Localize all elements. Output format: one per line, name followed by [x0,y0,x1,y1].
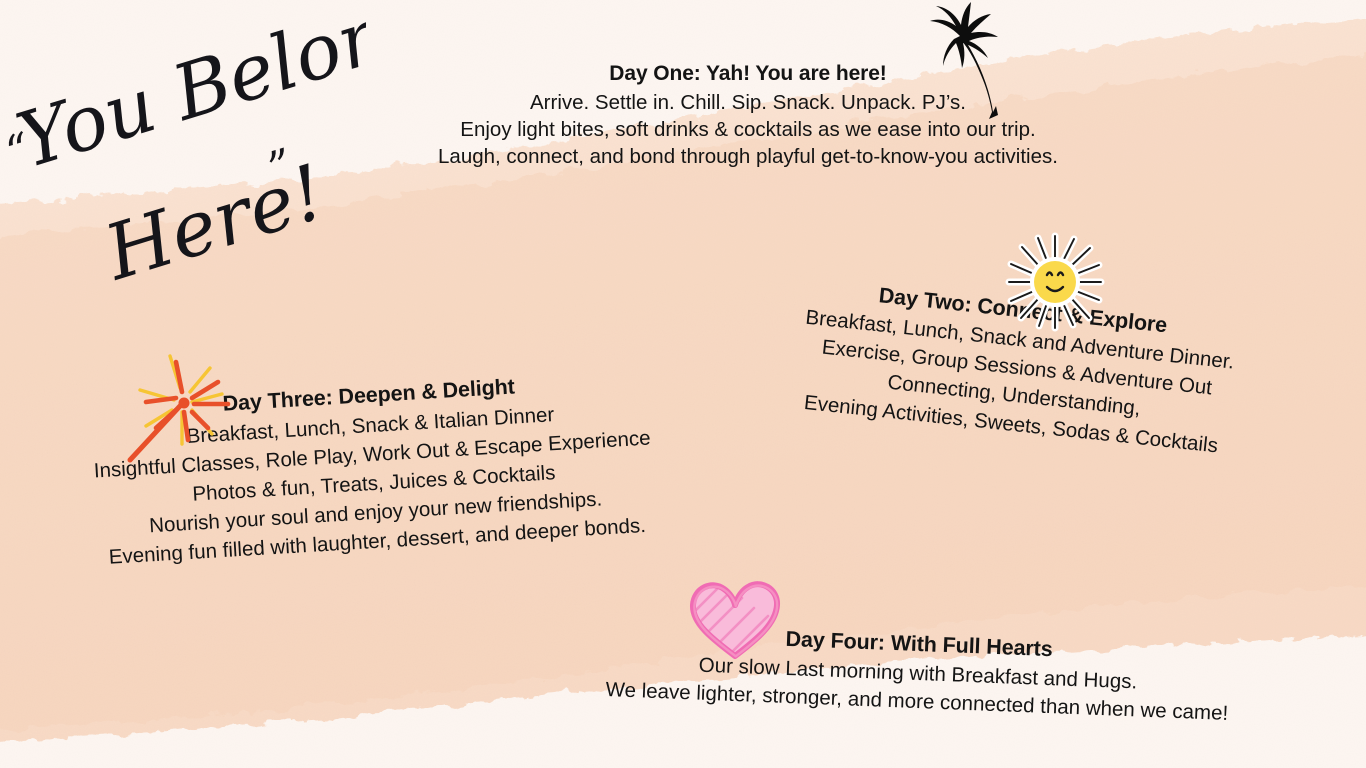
script-headline: “ You Belong Here! ” [6,18,366,298]
slide-canvas: “ You Belong Here! ” Day One: Yah! You a… [0,0,1366,768]
script-line-2: Here! [93,147,334,298]
smiling-sun-icon [1002,230,1108,334]
heart-icon [684,576,786,662]
palm-tree-icon [916,2,1012,122]
sparkle-star-icon [112,348,240,468]
day-one-line-3: Laugh, connect, and bond through playful… [398,144,1098,171]
